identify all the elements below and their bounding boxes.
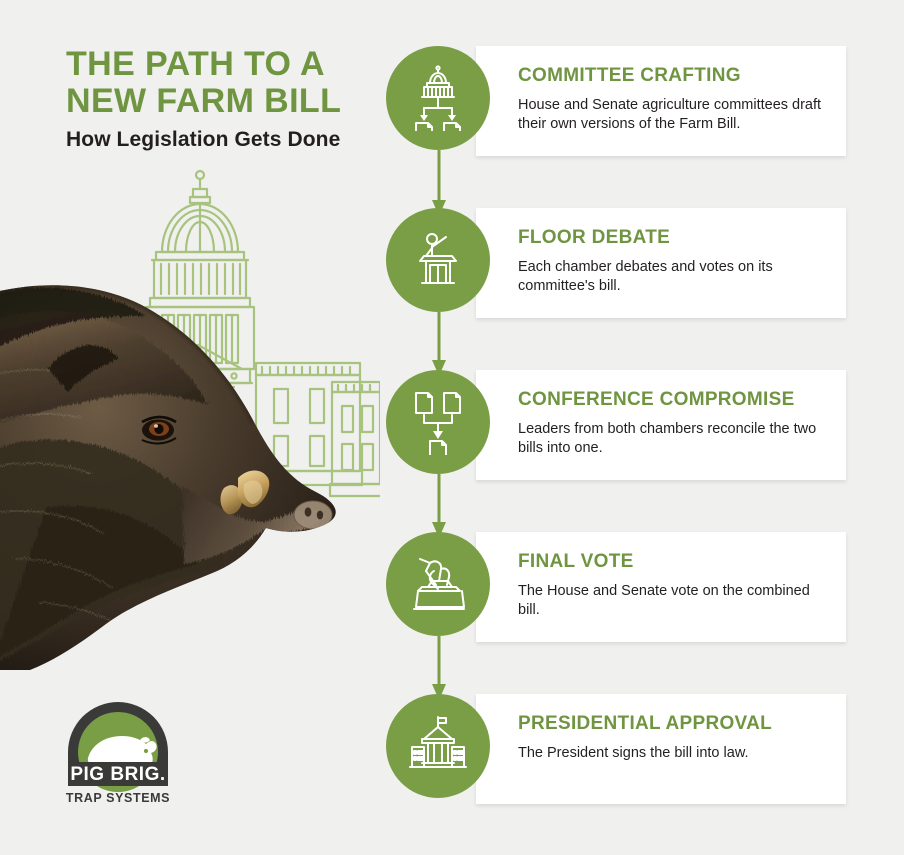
- step-card-1: COMMITTEE CRAFTING House and Senate agri…: [476, 46, 846, 156]
- white-house-icon: [408, 713, 468, 779]
- step-body-5: The President signs the bill into law.: [518, 744, 824, 764]
- step-card-3: CONFERENCE COMPROMISE Leaders from both …: [476, 370, 846, 480]
- connector-arrow-4: [430, 636, 448, 702]
- connector-arrow-3: [430, 474, 448, 540]
- step-title-5: PRESIDENTIAL APPROVAL: [518, 714, 824, 735]
- step-title-2: FLOOR DEBATE: [518, 228, 824, 249]
- timeline-step-4[interactable]: FINAL VOTE The House and Senate vote on …: [386, 532, 846, 642]
- process-timeline: COMMITTEE CRAFTING House and Senate agri…: [0, 0, 904, 855]
- step-body-3: Leaders from both chambers reconcile the…: [518, 420, 824, 459]
- step-card-4: FINAL VOTE The House and Senate vote on …: [476, 532, 846, 642]
- timeline-step-3[interactable]: CONFERENCE COMPROMISE Leaders from both …: [386, 370, 846, 480]
- step-icon-bubble-2[interactable]: [386, 208, 490, 312]
- step-title-4: FINAL VOTE: [518, 552, 824, 573]
- two-documents-merge-to-one-icon: [408, 389, 468, 455]
- step-icon-bubble-3[interactable]: [386, 370, 490, 474]
- step-body-1: House and Senate agriculture committees …: [518, 96, 824, 135]
- step-title-1: COMMITTEE CRAFTING: [518, 66, 824, 87]
- infographic-page: THE PATH TO A NEW FARM BILL How Legislat…: [0, 0, 904, 855]
- timeline-step-1[interactable]: COMMITTEE CRAFTING House and Senate agri…: [386, 46, 846, 156]
- step-card-5: PRESIDENTIAL APPROVAL The President sign…: [476, 694, 846, 804]
- timeline-step-2[interactable]: FLOOR DEBATE Each chamber debates and vo…: [386, 208, 846, 318]
- capitol-splits-to-two-documents-icon: [408, 65, 468, 131]
- step-icon-bubble-5[interactable]: [386, 694, 490, 798]
- step-icon-bubble-4[interactable]: [386, 532, 490, 636]
- step-body-2: Each chamber debates and votes on its co…: [518, 258, 824, 297]
- speaker-at-podium-icon: [408, 227, 468, 293]
- step-body-4: The House and Senate vote on the combine…: [518, 582, 824, 621]
- timeline-step-5[interactable]: PRESIDENTIAL APPROVAL The President sign…: [386, 694, 846, 804]
- step-icon-bubble-1[interactable]: [386, 46, 490, 150]
- step-card-2: FLOOR DEBATE Each chamber debates and vo…: [476, 208, 846, 318]
- step-title-3: CONFERENCE COMPROMISE: [518, 390, 824, 411]
- hand-casting-ballot-icon: [408, 551, 468, 617]
- connector-arrow-2: [430, 312, 448, 378]
